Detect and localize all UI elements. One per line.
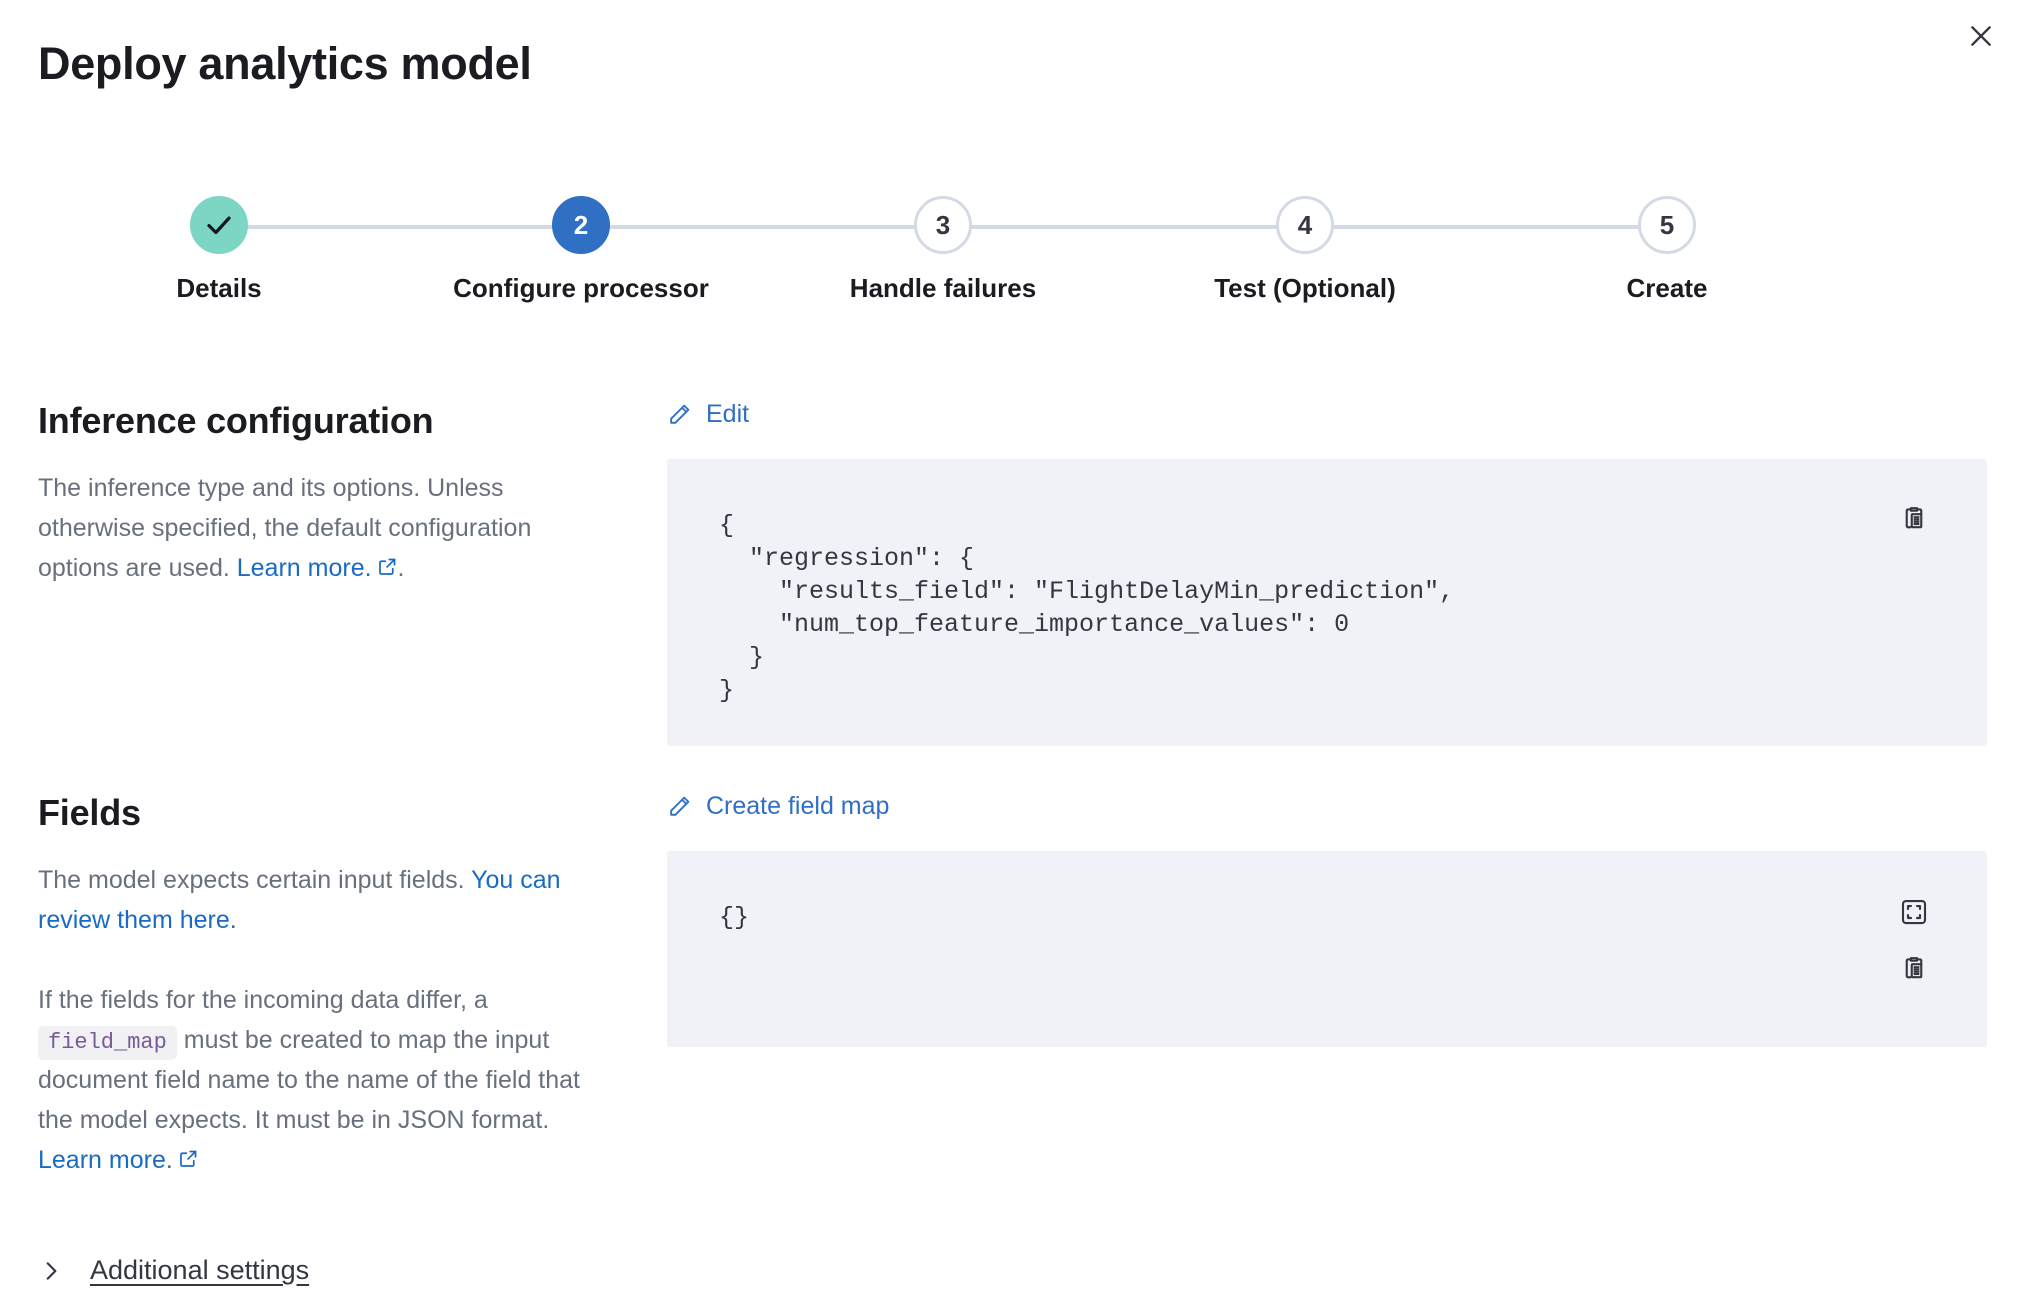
additional-settings-label: Additional settings [90,1255,309,1286]
edit-label: Edit [706,400,749,429]
step-indicator-5: 5 [1638,196,1696,254]
fields-learn-more-link[interactable]: Learn more. [38,1146,173,1174]
inference-learn-more-link[interactable]: Learn more. [237,554,372,582]
check-icon [204,210,234,240]
inference-heading: Inference configuration [38,400,638,442]
close-icon [1968,23,1994,49]
inference-description: The inference type and its options. Unle… [38,468,616,589]
external-link-icon [178,1141,199,1181]
step-handle-failures[interactable]: 3 Handle failures [762,196,1124,304]
pencil-icon [667,794,692,819]
step-label-3: Handle failures [850,273,1036,304]
fields-panel: Create field map {} [667,792,1987,1047]
field-map-code-chip: field_map [38,1026,177,1060]
fields-heading: Fields [38,792,638,834]
step-configure-processor[interactable]: 2 Configure processor [400,196,762,304]
field-map-code-block[interactable]: {} [667,851,1987,1047]
step-indicator-2: 2 [552,196,610,254]
step-create[interactable]: 5 Create [1486,196,1848,304]
edit-inference-config-button[interactable]: Edit [667,400,749,429]
inference-desc-period: . [398,554,405,582]
external-link-icon [377,549,398,589]
copy-icon [1899,505,1929,535]
additional-settings-accordion[interactable]: Additional settings [38,1255,309,1286]
chevron-right-icon [38,1258,64,1284]
fullscreen-icon [1899,897,1929,927]
copy-field-map-button[interactable] [1897,953,1931,987]
step-label-5: Create [1627,273,1708,304]
step-indicator-1 [190,196,248,254]
inference-code-tools [1897,503,1931,537]
copy-icon [1899,955,1929,985]
step-indicator-3: 3 [914,196,972,254]
fields-section: Fields The model expects certain input f… [38,792,638,1181]
expand-field-map-button[interactable] [1897,895,1931,929]
create-field-map-label: Create field map [706,792,889,821]
copy-inference-config-button[interactable] [1897,503,1931,537]
pencil-icon [667,402,692,427]
step-details[interactable]: Details [38,196,400,304]
wizard-stepper: Details 2 Configure processor 3 Handle f… [38,196,1848,326]
inference-config-panel: Edit { "regression": { "results_field": … [667,400,1987,746]
create-field-map-button[interactable]: Create field map [667,792,889,821]
fields-description-1: The model expects certain input fields. … [38,860,616,940]
fields-description-2: If the fields for the incoming data diff… [38,980,616,1181]
close-button[interactable] [1959,14,2003,58]
fields-desc2-text-a: If the fields for the incoming data diff… [38,986,488,1014]
page-title: Deploy analytics model [38,38,532,90]
inference-config-code-block[interactable]: { "regression": { "results_field": "Flig… [667,459,1987,746]
step-label-1: Details [176,273,261,304]
field-map-code: {} [667,851,1987,934]
step-test-optional[interactable]: 4 Test (Optional) [1124,196,1486,304]
step-label-2: Configure processor [453,273,709,304]
inference-config-code: { "regression": { "results_field": "Flig… [667,459,1987,707]
fields-desc-text: The model expects certain input fields. [38,866,471,894]
field-map-code-tools [1897,895,1931,987]
step-indicator-4: 4 [1276,196,1334,254]
step-label-4: Test (Optional) [1214,273,1396,304]
inference-configuration-section: Inference configuration The inference ty… [38,400,638,589]
deploy-analytics-model-flyout: Deploy analytics model Details 2 Configu… [0,0,2017,1311]
